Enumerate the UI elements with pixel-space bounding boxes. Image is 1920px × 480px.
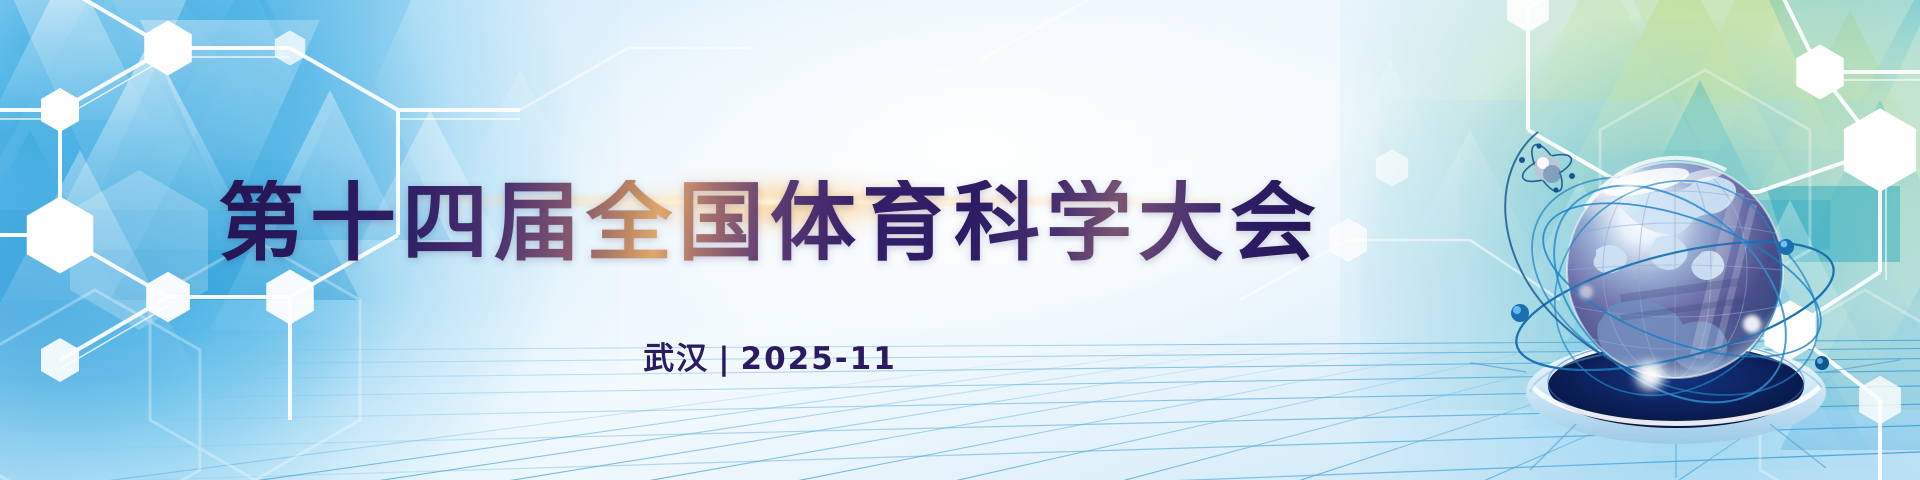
title-block: 第十四届全国体育科学大会 — [0, 122, 1540, 323]
conference-title: 第十四届全国体育科学大会 — [218, 180, 1322, 266]
subtitle-location: 武汉 — [643, 341, 709, 377]
conference-banner: 第十四届全国体育科学大会 武汉|2025-11 — [0, 0, 1920, 480]
globe-highlight — [1636, 362, 1664, 390]
hexagon-node — [1507, 0, 1549, 32]
subtitle-block: 武汉|2025-11 — [0, 333, 1540, 378]
conference-subtitle: 武汉|2025-11 — [643, 333, 897, 378]
subtitle-separator: | — [709, 341, 740, 377]
hexagon-node — [275, 30, 305, 65]
subtitle-date: 2025-11 — [741, 341, 897, 377]
